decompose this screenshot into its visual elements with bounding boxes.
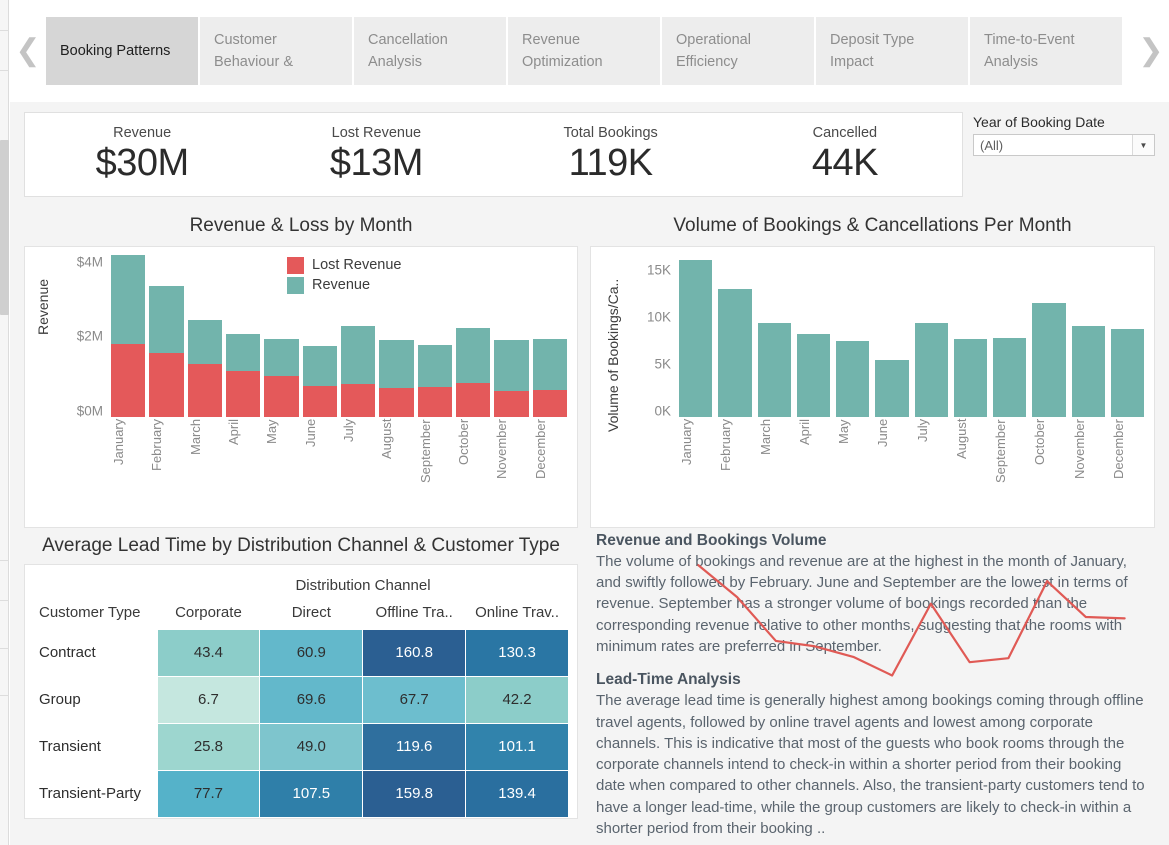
table-header-row: Customer TypeCorporateDirectOffline Tra.… — [33, 604, 569, 630]
heatmap-cell[interactable]: 119.6 — [363, 723, 466, 770]
bar-segment-revenue[interactable] — [226, 334, 260, 371]
table-row[interactable]: Transient-Party77.7107.5159.8139.4 — [33, 770, 569, 817]
column-header: Online Trav.. — [466, 604, 569, 630]
x-tick-label: September — [418, 419, 452, 514]
tab-revenue-optimization[interactable]: Revenue Optimization — [508, 17, 660, 85]
row-header: Contract — [33, 629, 157, 676]
x-tick-label: March — [188, 419, 222, 514]
x-tick-label: August — [954, 419, 987, 514]
volume-chart-title: Volume of Bookings & Cancellations Per M… — [590, 208, 1155, 246]
revenue-chart-y-axis-title: Revenue — [35, 279, 51, 335]
stacked-bar[interactable] — [533, 253, 567, 417]
x-tick-label: September — [993, 419, 1026, 514]
heatmap-cell[interactable]: 49.0 — [260, 723, 363, 770]
kpi-cancelled: Cancelled44K — [728, 113, 962, 196]
x-tick-label: June — [303, 419, 337, 514]
tab-booking-patterns[interactable]: Booking Patterns — [46, 17, 198, 85]
revenue-chart-y-ticks: $0M$2M$4M — [55, 247, 107, 417]
kpi-value: 119K — [569, 142, 653, 185]
legend-label: Revenue — [312, 277, 370, 293]
tab-label: Booking Patterns — [60, 40, 170, 62]
x-tick-label: March — [758, 419, 791, 514]
bar-segment-lost-revenue[interactable] — [149, 353, 183, 417]
x-tick-label: July — [915, 419, 948, 514]
revenue-loss-chart-title: Revenue & Loss by Month — [24, 208, 578, 246]
stacked-bar[interactable] — [149, 253, 183, 417]
bar-segment-lost-revenue[interactable] — [226, 371, 260, 416]
kpi-label: Revenue — [113, 125, 171, 141]
lead-time-table-panel[interactable]: Distribution Channel Customer TypeCorpor… — [24, 564, 578, 819]
kpi-card: Revenue$30MLost Revenue$13MTotal Booking… — [24, 112, 963, 197]
heatmap-cell[interactable]: 160.8 — [363, 629, 466, 676]
bar-segment-revenue[interactable] — [341, 326, 375, 383]
revenue-chart-legend[interactable]: Lost RevenueRevenue — [287, 257, 401, 297]
tab-time-to-event-analysis[interactable]: Time-to-Event Analysis — [970, 17, 1122, 85]
stacked-bar[interactable] — [226, 253, 260, 417]
dashboard-body: Revenue$30MLost Revenue$13MTotal Booking… — [10, 102, 1169, 845]
heatmap-cell[interactable]: 42.2 — [466, 676, 569, 723]
bar-segment-revenue[interactable] — [418, 345, 452, 387]
tab-label: Time-to-Event Analysis — [984, 29, 1108, 74]
bar-segment-revenue[interactable] — [111, 255, 145, 344]
year-filter-label: Year of Booking Date — [973, 114, 1155, 130]
customer-type-header: Customer Type — [33, 604, 157, 630]
table-row[interactable]: Group6.769.667.742.2 — [33, 676, 569, 723]
x-tick-label: June — [875, 419, 908, 514]
column-header: Offline Tra.. — [363, 604, 466, 630]
heatmap-cell[interactable]: 159.8 — [363, 770, 466, 817]
heatmap-cell[interactable]: 130.3 — [466, 629, 569, 676]
heatmap-cell[interactable]: 67.7 — [363, 676, 466, 723]
tab-label: Cancellation Analysis — [368, 29, 492, 74]
heatmap-cell[interactable]: 107.5 — [260, 770, 363, 817]
y-tick-label: 15K — [647, 263, 671, 278]
x-tick-label: October — [456, 419, 490, 514]
kpi-total-bookings: Total Bookings119K — [494, 113, 728, 196]
legend-swatch — [287, 277, 304, 294]
table-row[interactable]: Transient25.849.0119.6101.1 — [33, 723, 569, 770]
chevron-down-icon[interactable]: ▼ — [1132, 135, 1154, 155]
row-header: Transient-Party — [33, 770, 157, 817]
window-scrollbar[interactable] — [0, 0, 9, 845]
kpi-value: $30M — [96, 142, 189, 185]
tab-label: Operational Efficiency — [676, 29, 800, 74]
scrollbar-thumb[interactable] — [0, 140, 9, 315]
x-tick-label: July — [341, 419, 375, 514]
volume-chart-y-axis-title: Volume of Bookings/Ca.. — [605, 278, 621, 431]
tab-list: Booking PatternsCustomer Behaviour &Canc… — [46, 17, 1133, 85]
row-header: Group — [33, 676, 157, 723]
tab-cancellation-analysis[interactable]: Cancellation Analysis — [354, 17, 506, 85]
kpi-lost-revenue: Lost Revenue$13M — [259, 113, 493, 196]
tabs-next-icon[interactable]: ❯ — [1133, 0, 1169, 102]
revenue-loss-chart[interactable]: Revenue $0M$2M$4M Lost RevenueRevenue Ja… — [24, 246, 578, 528]
tab-operational-efficiency[interactable]: Operational Efficiency — [662, 17, 814, 85]
kpi-label: Lost Revenue — [332, 125, 421, 141]
bar-segment-lost-revenue[interactable] — [341, 384, 375, 417]
heatmap-cell[interactable]: 101.1 — [466, 723, 569, 770]
bar-segment-lost-revenue[interactable] — [303, 386, 337, 417]
lead-time-table: Customer TypeCorporateDirectOffline Tra.… — [33, 604, 569, 818]
heatmap-cell[interactable]: 43.4 — [157, 629, 260, 676]
tab-label: Deposit Type Impact — [830, 29, 954, 74]
kpi-label: Cancelled — [813, 125, 878, 141]
bar-segment-lost-revenue[interactable] — [264, 376, 298, 417]
bar-segment-lost-revenue[interactable] — [456, 383, 490, 417]
x-tick-label: January — [679, 419, 712, 514]
volume-chart-x-ticks: JanuaryFebruaryMarchAprilMayJuneJulyAugu… — [679, 419, 1144, 514]
dashboard-content: Revenue & Loss by Month Revenue $0M$2M$4… — [24, 208, 1155, 839]
stacked-bar[interactable] — [418, 253, 452, 417]
lead-time-table-title: Average Lead Time by Distribution Channe… — [24, 528, 578, 564]
bar-segment-lost-revenue[interactable] — [418, 387, 452, 416]
kpi-label: Total Bookings — [563, 125, 657, 141]
kpi-value: 44K — [812, 142, 878, 185]
bar-segment-revenue[interactable] — [264, 339, 298, 376]
bar-segment-lost-revenue[interactable] — [494, 391, 528, 417]
y-tick-label: 10K — [647, 310, 671, 325]
x-tick-label: April — [797, 419, 830, 514]
volume-chart-y-ticks: 0K5K10K15K — [623, 247, 675, 417]
tab-label: Revenue Optimization — [522, 29, 646, 74]
tabs-prev-icon[interactable]: ❮ — [10, 0, 46, 102]
tab-deposit-type-impact[interactable]: Deposit Type Impact — [816, 17, 968, 85]
x-tick-label: May — [836, 419, 869, 514]
bar-segment-revenue[interactable] — [379, 340, 413, 389]
year-filter-value[interactable]: (All) — [974, 135, 1132, 155]
bar-segment-revenue[interactable] — [456, 328, 490, 383]
column-header: Direct — [260, 604, 363, 630]
legend-item[interactable]: Revenue — [287, 277, 401, 294]
bar-segment-lost-revenue[interactable] — [188, 364, 222, 417]
bar-segment-revenue[interactable] — [188, 320, 222, 364]
table-row[interactable]: Contract43.460.9160.8130.3 — [33, 629, 569, 676]
bar-segment-lost-revenue[interactable] — [379, 388, 413, 416]
stacked-bar[interactable] — [111, 253, 145, 417]
y-tick-label: 0K — [654, 403, 671, 418]
x-tick-label: December — [1111, 419, 1144, 514]
legend-label: Lost Revenue — [312, 257, 401, 273]
volume-chart-plot — [679, 253, 1144, 417]
x-tick-label: February — [718, 419, 751, 514]
tab-customer-behaviour[interactable]: Customer Behaviour & — [200, 17, 352, 85]
y-tick-label: $2M — [77, 329, 103, 344]
stacked-bar[interactable] — [188, 253, 222, 417]
y-tick-label: 5K — [654, 356, 671, 371]
volume-chart[interactable]: Volume of Bookings/Ca.. 0K5K10K15K Janua… — [590, 246, 1155, 528]
right-column: Volume of Bookings & Cancellations Per M… — [590, 208, 1155, 839]
x-tick-label: February — [149, 419, 183, 514]
kpi-value: $13M — [330, 142, 423, 185]
revenue-chart-x-ticks: JanuaryFebruaryMarchAprilMayJuneJulyAugu… — [111, 419, 567, 514]
legend-swatch — [287, 257, 304, 274]
x-tick-label: May — [264, 419, 298, 514]
heatmap-cell[interactable]: 60.9 — [260, 629, 363, 676]
kpi-row: Revenue$30MLost Revenue$13MTotal Booking… — [24, 112, 1155, 200]
bar-segment-revenue[interactable] — [149, 286, 183, 353]
bar-segment-lost-revenue[interactable] — [533, 390, 567, 416]
bar-segment-revenue[interactable] — [303, 346, 337, 386]
x-tick-label: December — [533, 419, 567, 514]
tab-label: Customer Behaviour & — [214, 29, 338, 74]
year-filter: Year of Booking Date (All) ▼ — [973, 112, 1155, 156]
x-tick-label: January — [111, 419, 145, 514]
heatmap-cell[interactable]: 69.6 — [260, 676, 363, 723]
row-header: Transient — [33, 723, 157, 770]
stacked-bar[interactable] — [456, 253, 490, 417]
left-column: Revenue & Loss by Month Revenue $0M$2M$4… — [24, 208, 578, 839]
legend-item[interactable]: Lost Revenue — [287, 257, 401, 274]
heatmap-cell[interactable]: 6.7 — [157, 676, 260, 723]
bar-segment-revenue[interactable] — [494, 340, 528, 391]
column-header: Corporate — [157, 604, 260, 630]
heatmap-cell[interactable]: 25.8 — [157, 723, 260, 770]
table-body: Contract43.460.9160.8130.3Group6.769.667… — [33, 629, 569, 817]
x-tick-label: April — [226, 419, 260, 514]
y-tick-label: $0M — [77, 403, 103, 418]
x-tick-label: August — [379, 419, 413, 514]
dashboard-tab-strip: ❮ Booking PatternsCustomer Behaviour &Ca… — [10, 0, 1169, 102]
x-tick-label: November — [494, 419, 528, 514]
bar-segment-lost-revenue[interactable] — [111, 344, 145, 417]
stacked-bar[interactable] — [494, 253, 528, 417]
heatmap-cell[interactable]: 139.4 — [466, 770, 569, 817]
x-tick-label: October — [1032, 419, 1065, 514]
heatmap-cell[interactable]: 77.7 — [157, 770, 260, 817]
y-tick-label: $4M — [77, 254, 103, 269]
year-filter-select[interactable]: (All) ▼ — [973, 134, 1155, 156]
bar-segment-revenue[interactable] — [533, 339, 567, 391]
distribution-channel-header: Distribution Channel — [157, 571, 569, 604]
x-tick-label: November — [1072, 419, 1105, 514]
kpi-revenue: Revenue$30M — [25, 113, 259, 196]
